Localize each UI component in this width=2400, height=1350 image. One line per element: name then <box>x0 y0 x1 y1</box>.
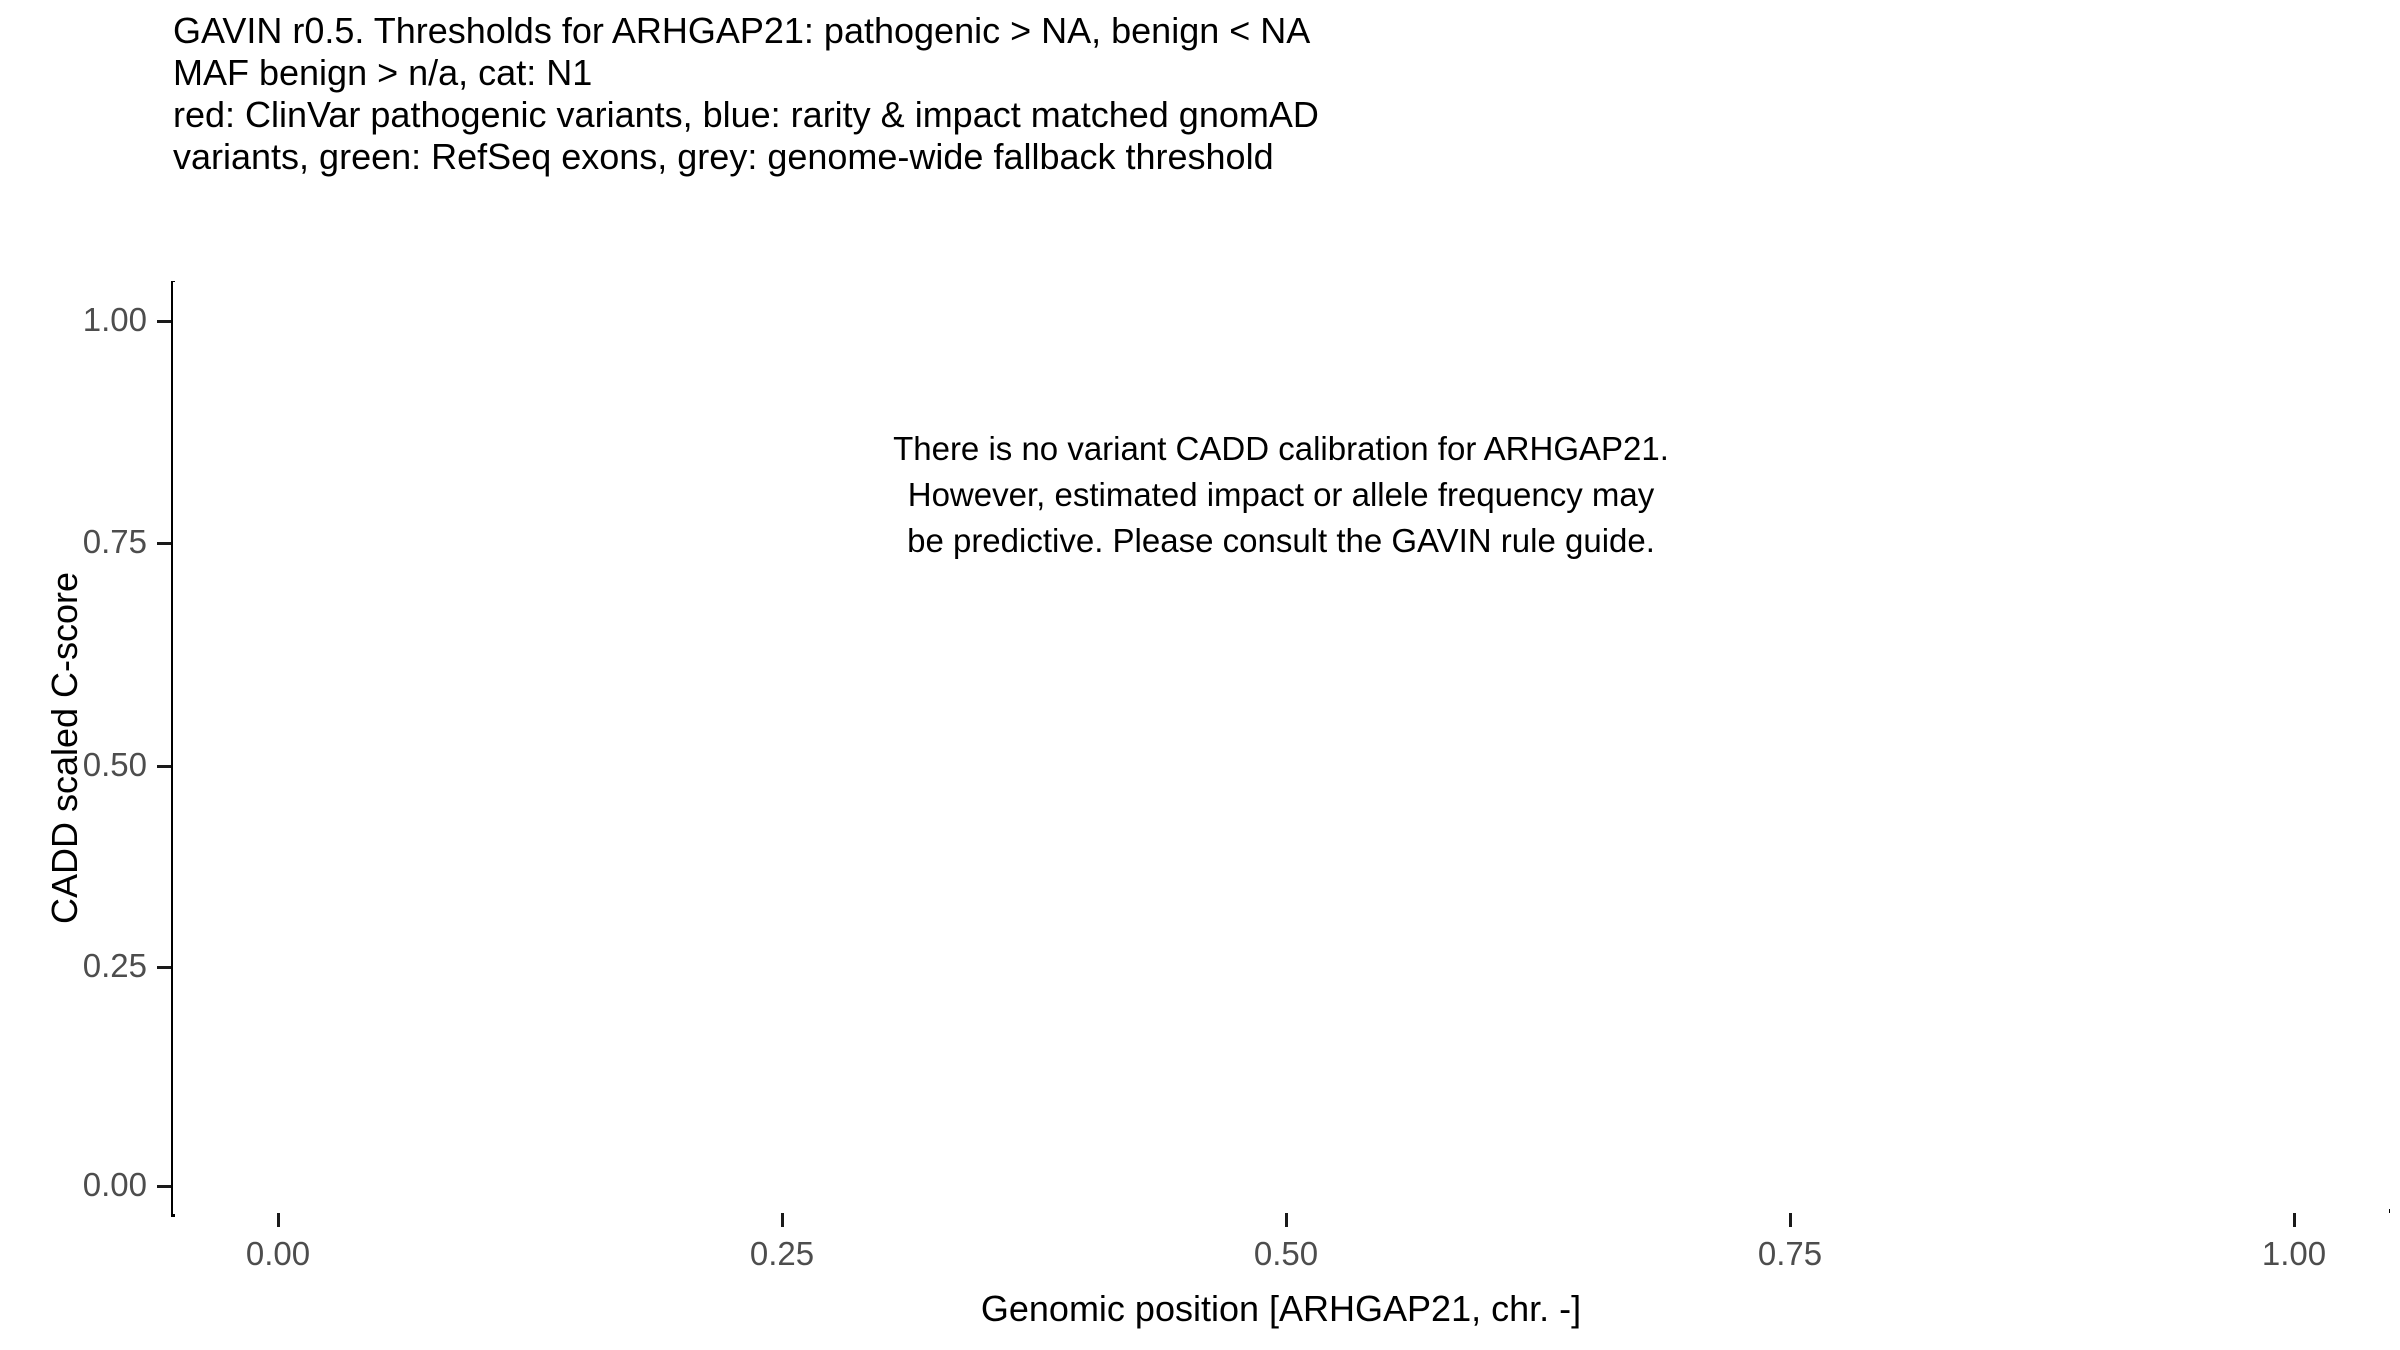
x-tick-label: 0.50 <box>1166 1235 1406 1273</box>
no-calibration-annotation: There is no variant CADD calibration for… <box>173 426 2389 564</box>
annotation-line-1: There is no variant CADD calibration for… <box>173 426 2389 472</box>
x-tick-label: 0.25 <box>662 1235 902 1273</box>
chart-title: GAVIN r0.5. Thresholds for ARHGAP21: pat… <box>173 10 2353 178</box>
plot-panel: There is no variant CADD calibration for… <box>173 282 2389 1214</box>
y-tick-mark <box>157 966 171 969</box>
y-tick-label: 1.00 <box>83 297 147 343</box>
x-tick-mark <box>1789 1213 1792 1227</box>
x-tick-label: 0.00 <box>158 1235 398 1273</box>
y-tick-mark <box>157 542 171 545</box>
y-tick-label: 0.25 <box>83 943 147 989</box>
chart-title-line-1: GAVIN r0.5. Thresholds for ARHGAP21: pat… <box>173 10 2353 52</box>
y-tick-mark <box>157 765 171 768</box>
x-tick-label: 0.75 <box>1670 1235 1910 1273</box>
chart-title-line-3: red: ClinVar pathogenic variants, blue: … <box>173 94 2353 136</box>
x-tick-mark <box>2293 1213 2296 1227</box>
x-tick-mark <box>1285 1213 1288 1227</box>
chart-title-line-4: variants, green: RefSeq exons, grey: gen… <box>173 136 2353 178</box>
y-tick-mark <box>157 1185 171 1188</box>
x-tick-label: 1.00 <box>2174 1235 2400 1273</box>
chart-title-line-2: MAF benign > n/a, cat: N1 <box>173 52 2353 94</box>
annotation-line-3: be predictive. Please consult the GAVIN … <box>173 518 2389 564</box>
x-tick-mark <box>781 1213 784 1227</box>
chart-canvas: GAVIN r0.5. Thresholds for ARHGAP21: pat… <box>0 0 2400 1350</box>
x-tick-mark <box>277 1213 280 1227</box>
y-tick-label: 0.50 <box>83 742 147 788</box>
y-tick-label: 0.75 <box>83 519 147 565</box>
x-axis-title: Genomic position [ARHGAP21, chr. -] <box>173 1288 2389 1330</box>
y-axis-title: CADD scaled C-score <box>44 282 86 1214</box>
y-tick-label: 0.00 <box>83 1162 147 1208</box>
y-tick-mark <box>157 320 171 323</box>
annotation-line-2: However, estimated impact or allele freq… <box>173 472 2389 518</box>
